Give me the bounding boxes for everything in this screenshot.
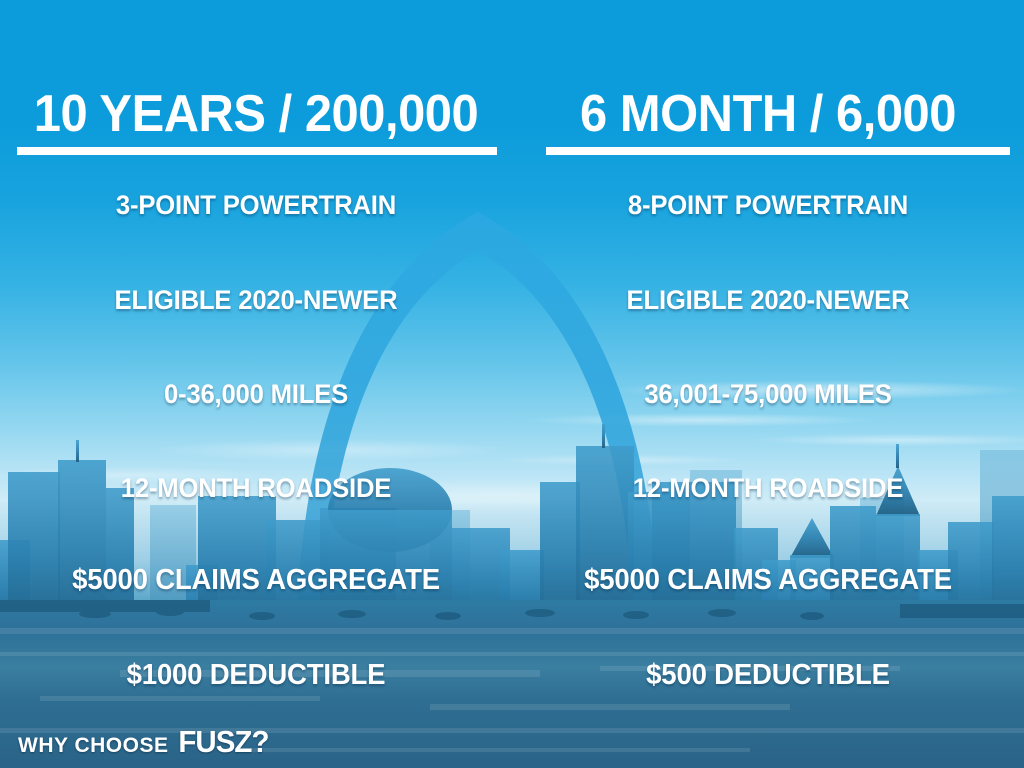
plan-feature-left-5: $5000 CLAIMS AGGREGATE bbox=[13, 565, 499, 595]
footer-why-choose-label: WHY CHOOSE bbox=[18, 734, 168, 758]
plan-feature-right-5: $5000 CLAIMS AGGREGATE bbox=[525, 565, 1011, 595]
plan-column-right: 6 MONTH / 6,000 8-POINT POWERTRAIN ELIGI… bbox=[512, 0, 1024, 768]
plan-heading-left: 10 YEARS / 200,000 bbox=[15, 88, 496, 140]
heading-underline-right bbox=[546, 147, 1010, 155]
plan-feature-left-4: 12-MONTH ROADSIDE bbox=[13, 473, 499, 503]
plan-feature-right-1: 8-POINT POWERTRAIN bbox=[525, 190, 1011, 220]
footer-branding: WHY CHOOSE FUSZ? bbox=[18, 724, 271, 760]
plan-feature-left-6: $1000 DEDUCTIBLE bbox=[13, 660, 499, 690]
plan-column-left: 10 YEARS / 200,000 3-POINT POWERTRAIN EL… bbox=[0, 0, 512, 768]
plan-heading-right: 6 MONTH / 6,000 bbox=[527, 88, 1008, 140]
plan-feature-right-6: $500 DEDUCTIBLE bbox=[525, 660, 1011, 690]
plan-feature-left-3: 0-36,000 MILES bbox=[13, 379, 499, 409]
plan-feature-right-4: 12-MONTH ROADSIDE bbox=[525, 473, 1011, 503]
heading-underline-left bbox=[17, 147, 497, 155]
plan-feature-left-2: ELIGIBLE 2020-NEWER bbox=[13, 285, 499, 315]
slide-canvas: 10 YEARS / 200,000 3-POINT POWERTRAIN EL… bbox=[0, 0, 1024, 768]
plan-feature-left-1: 3-POINT POWERTRAIN bbox=[13, 190, 499, 220]
plan-feature-right-3: 36,001-75,000 MILES bbox=[525, 379, 1011, 409]
footer-brand-logo: FUSZ? bbox=[179, 724, 269, 760]
plan-feature-right-2: ELIGIBLE 2020-NEWER bbox=[525, 285, 1011, 315]
